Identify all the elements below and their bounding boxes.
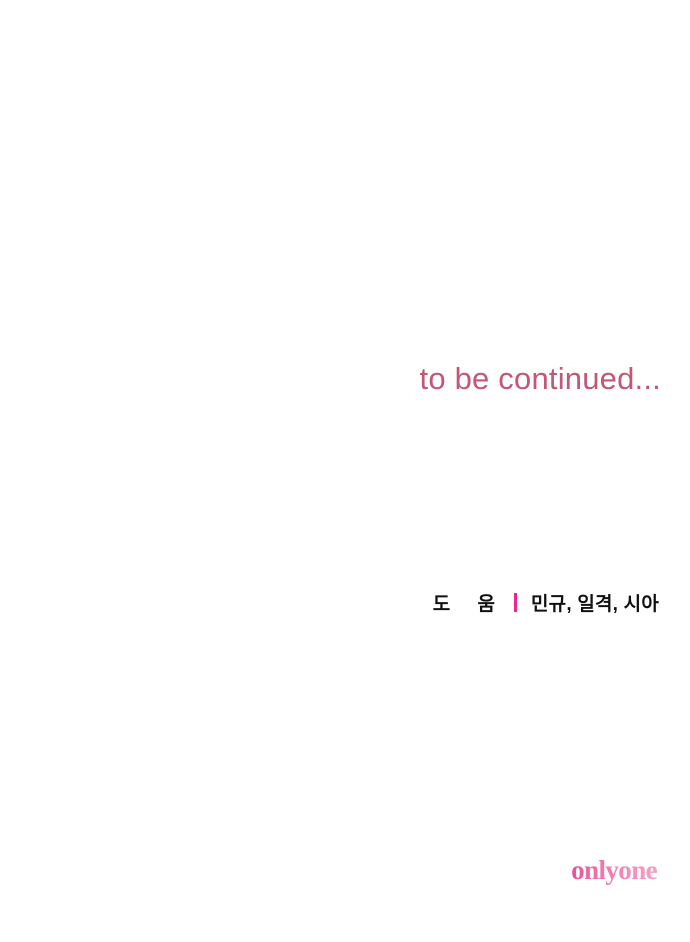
to-be-continued-text: to be continued... — [0, 358, 661, 400]
credits-line: 도 움 민규, 일격, 시아 — [0, 589, 659, 616]
credits-role-label: 도 움 — [433, 589, 506, 616]
comic-ending-page: to be continued... 도 움 민규, 일격, 시아 onlyon… — [0, 0, 690, 942]
credits-separator-bar — [514, 593, 517, 612]
logo-container: onlyone — [0, 855, 657, 885]
onlyone-logo-wordmark: onlyone — [571, 855, 657, 886]
credits-names: 민규, 일격, 시아 — [531, 589, 659, 616]
